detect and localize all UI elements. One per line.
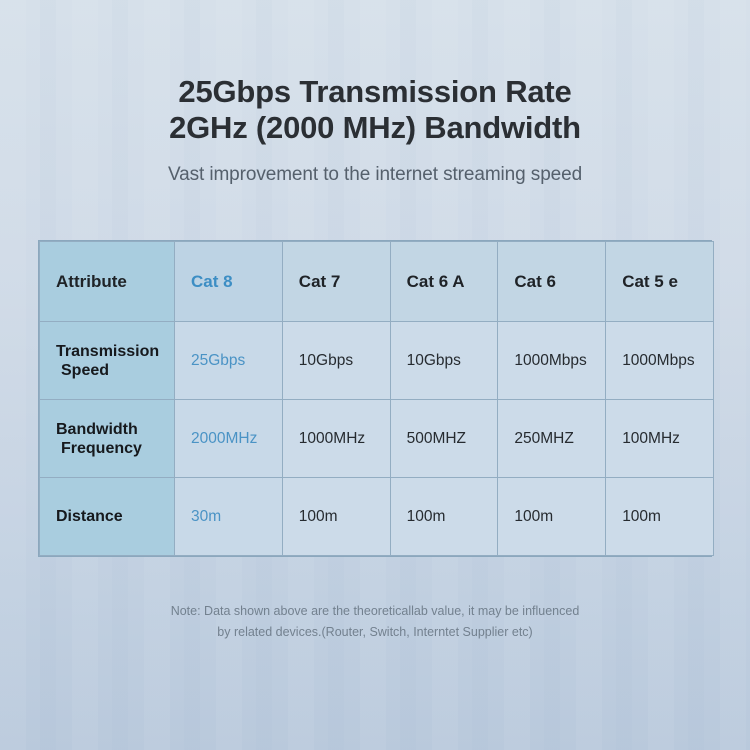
row-label-bandwidth-frequency: Bandwidth Frequency [40,400,175,478]
table-header-row: Attribute Cat 8 Cat 7 Cat 6 A Cat 6 Cat … [40,242,714,322]
footnote-line-2: by related devices.(Router, Switch, Inte… [0,622,750,643]
cell-bandwidth-frequency-cat6: 250MHZ [498,400,606,478]
table-row: Distance 30m 100m 100m 100m 100m [40,478,714,556]
page-title-line-1: 25Gbps Transmission Rate [178,74,571,109]
cell-bandwidth-frequency-cat8: 2000MHz [175,400,283,478]
row-label-distance: Distance [40,478,175,556]
cell-transmission-speed-cat8: 25Gbps [175,322,283,400]
cell-distance-cat8: 30m [175,478,283,556]
row-label-line-2: Speed [56,361,174,380]
table-header-cell-cat8: Cat 8 [175,242,283,322]
cell-bandwidth-frequency-cat7: 1000MHz [282,400,390,478]
table-header-cell-cat5e: Cat 5 e [606,242,714,322]
table-header-cell-cat7: Cat 7 [282,242,390,322]
infographic-page: 25Gbps Transmission Rate 2GHz (2000 MHz)… [0,0,750,750]
table-header-cell-attribute: Attribute [40,242,175,322]
page-title: 25Gbps Transmission Rate 2GHz (2000 MHz)… [0,74,750,146]
cell-distance-cat6: 100m [498,478,606,556]
row-label-line-2: Frequency [56,439,174,458]
page-title-line-2: 2GHz (2000 MHz) Bandwidth [0,110,750,146]
table-header-cell-cat6a: Cat 6 A [390,242,498,322]
table-row: Bandwidth Frequency 2000MHz 1000MHz 500M… [40,400,714,478]
row-label-line-1: Bandwidth [56,421,138,438]
cell-transmission-speed-cat6a: 10Gbps [390,322,498,400]
page-subtitle: Vast improvement to the internet streami… [0,164,750,186]
cell-distance-cat7: 100m [282,478,390,556]
table-row: Transmission Speed 25Gbps 10Gbps 10Gbps … [40,322,714,400]
cell-bandwidth-frequency-cat6a: 500MHZ [390,400,498,478]
cell-transmission-speed-cat7: 10Gbps [282,322,390,400]
table-header-cell-cat6: Cat 6 [498,242,606,322]
cell-distance-cat5e: 100m [606,478,714,556]
row-label-line-1: Distance [56,508,123,525]
cell-distance-cat6a: 100m [390,478,498,556]
cell-transmission-speed-cat5e: 1000Mbps [606,322,714,400]
table-footnote: Note: Data shown above are the theoretic… [0,601,750,643]
cell-transmission-speed-cat6: 1000Mbps [498,322,606,400]
row-label-line-1: Transmission [56,343,159,360]
row-label-transmission-speed: Transmission Speed [40,322,175,400]
footnote-line-1: Note: Data shown above are the theoretic… [0,601,750,622]
cell-bandwidth-frequency-cat5e: 100MHz [606,400,714,478]
spec-comparison-table: Attribute Cat 8 Cat 7 Cat 6 A Cat 6 Cat … [38,240,712,557]
